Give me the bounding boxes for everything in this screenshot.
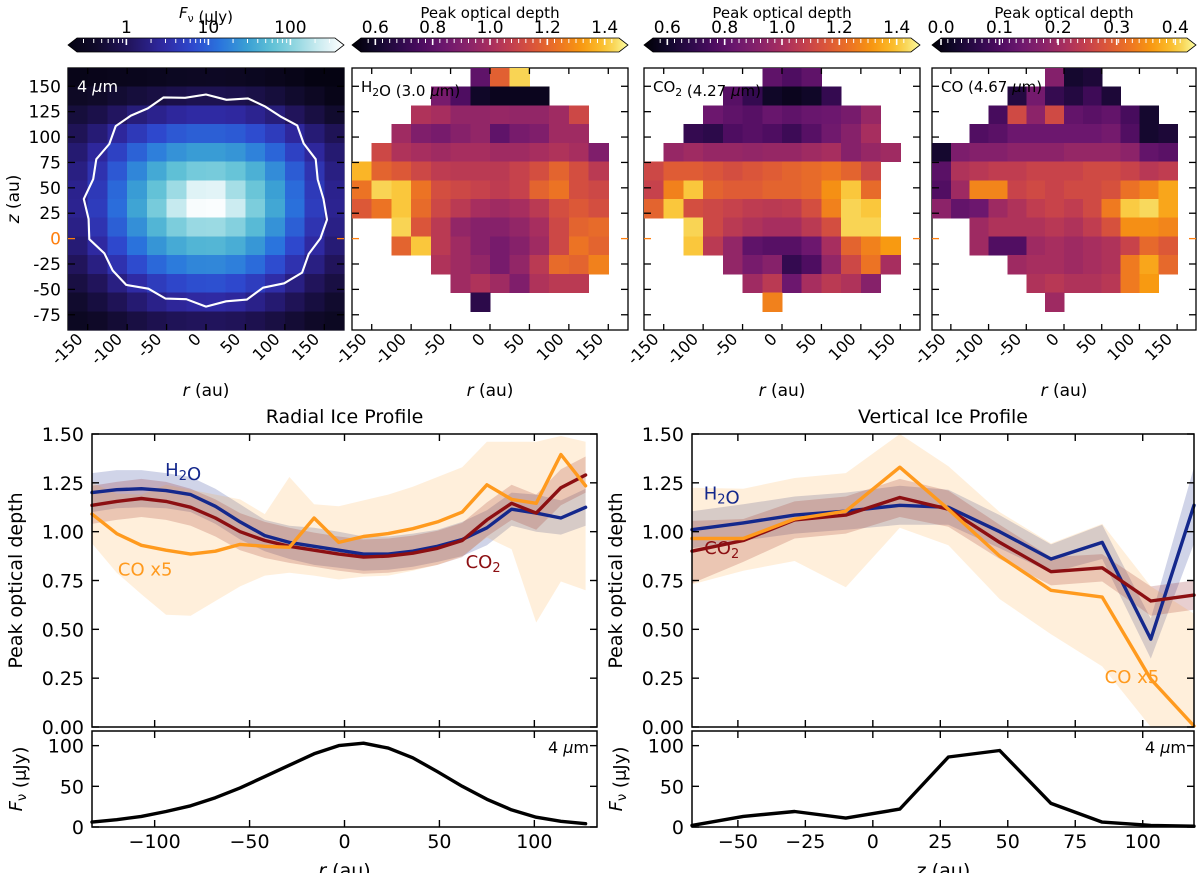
heatmap-cell xyxy=(305,311,325,330)
heatmap-cell xyxy=(821,199,841,218)
heatmap-cell xyxy=(549,180,569,199)
heatmap-cell xyxy=(167,124,187,143)
heatmap-cell xyxy=(1007,162,1026,181)
heatmap-cell xyxy=(107,105,127,124)
heatmap-cell xyxy=(265,162,285,181)
heatmap-cell xyxy=(703,218,723,237)
colorbar-ticklabel: 0.6 xyxy=(362,18,389,38)
heatmap-cell xyxy=(743,199,763,218)
heatmap-cell xyxy=(470,293,490,312)
heatmap-cell xyxy=(305,293,325,312)
heatmap-cell xyxy=(226,162,246,181)
xtick-label: -150 xyxy=(331,329,370,368)
heatmap-cell xyxy=(782,274,802,293)
heatmap-cell xyxy=(821,87,841,106)
colorbar-ticklabel: 0.6 xyxy=(654,18,681,38)
heatmap-cell xyxy=(821,274,841,293)
ytick-label: 1.00 xyxy=(642,522,684,544)
heatmap-cell xyxy=(1045,218,1064,237)
flux-line-vertical-flux-profile xyxy=(692,751,1194,827)
heatmap-cell xyxy=(88,293,108,312)
heatmap-cell xyxy=(510,218,530,237)
colorbar-ticklabel: 0.2 xyxy=(1045,18,1072,38)
heatmap-cell xyxy=(147,255,167,274)
heatmap-cell xyxy=(352,199,372,218)
heatmap-cell xyxy=(1007,180,1026,199)
heatmap-cell xyxy=(821,105,841,124)
heatmap-cell xyxy=(391,180,411,199)
heatmap-cell xyxy=(529,143,549,162)
heatmap-cell xyxy=(68,124,88,143)
ytick-label: 25 xyxy=(39,204,61,224)
heatmap-cell xyxy=(1139,143,1158,162)
heatmap-cell xyxy=(589,236,609,255)
profile-panel-vertical-ice-profile: Vertical Ice ProfileH2OCO2CO x50.000.250… xyxy=(605,406,1194,873)
heatmap-cell xyxy=(549,274,569,293)
heatmap-cell xyxy=(549,218,569,237)
heatmap-cell xyxy=(88,218,108,237)
heatmap-cell xyxy=(932,162,951,181)
heatmap-cell xyxy=(127,218,147,237)
heatmap-cell xyxy=(431,180,451,199)
heatmap-cell xyxy=(549,124,569,143)
heatmap-cell xyxy=(285,162,305,181)
heatmap-cell xyxy=(226,124,246,143)
heatmap-cell xyxy=(1045,124,1064,143)
heatmap-cell xyxy=(743,105,763,124)
ytick-label: 50 xyxy=(39,179,61,199)
heatmap-cell xyxy=(549,236,569,255)
heatmap-cell xyxy=(802,274,822,293)
xaxis-label-flux-map: r (au) xyxy=(183,381,230,401)
heatmap-cell xyxy=(529,87,549,106)
heatmap-cell xyxy=(1045,293,1064,312)
heatmap-cell xyxy=(1139,274,1158,293)
heatmap-cell xyxy=(762,162,782,181)
heatmap-cell xyxy=(1083,236,1102,255)
heatmap-cell xyxy=(703,199,723,218)
heatmap-cell xyxy=(147,180,167,199)
heatmap-cell xyxy=(762,218,782,237)
heatmap-cell xyxy=(510,124,530,143)
heatmap-cell xyxy=(743,162,763,181)
heatmap-cell xyxy=(167,162,187,181)
heatmap-cell xyxy=(451,236,471,255)
heatmap-cell xyxy=(324,236,344,255)
series-label-CO₂: CO2 xyxy=(466,552,501,576)
heatmap-cell xyxy=(127,311,147,330)
xtick-label: -150 xyxy=(47,329,86,368)
xtick-label: -50 xyxy=(993,329,1025,361)
heatmap-cell xyxy=(324,87,344,106)
heatmap-cell xyxy=(569,274,589,293)
ytick-label: 50 xyxy=(60,776,84,798)
ytick-label: 100 xyxy=(29,128,61,148)
heatmap-cell xyxy=(569,199,589,218)
heatmap-cell xyxy=(265,143,285,162)
heatmap-cell xyxy=(989,143,1008,162)
heatmap-cell xyxy=(285,311,305,330)
heatmap-cell xyxy=(245,162,265,181)
xtick-label: −50 xyxy=(718,831,758,853)
heatmap-cell xyxy=(411,105,431,124)
heatmap-cell xyxy=(970,199,989,218)
heatmap-cell xyxy=(490,218,510,237)
heatmap-cell xyxy=(147,105,167,124)
xtick-label: 100 xyxy=(249,329,284,364)
heatmap-cell xyxy=(782,236,802,255)
heatmap-cell xyxy=(490,68,510,87)
heatmap-cell xyxy=(167,255,187,274)
heatmap-cell xyxy=(989,162,1008,181)
heatmap-cell xyxy=(431,218,451,237)
heatmap-cell xyxy=(989,105,1008,124)
heatmap-cell xyxy=(569,143,589,162)
heatmap-cell xyxy=(529,274,549,293)
xtick-label: 50 xyxy=(427,831,451,853)
heatmap-cell xyxy=(324,162,344,181)
heatmap-cell xyxy=(762,199,782,218)
heatmap-cell xyxy=(1026,124,1045,143)
heatmap-cell xyxy=(88,105,108,124)
ytick-label: 1.00 xyxy=(42,522,84,544)
heatmap-cell xyxy=(186,124,206,143)
heatmap-cell xyxy=(285,236,305,255)
heatmap-cell xyxy=(265,180,285,199)
heatmap-cell xyxy=(549,143,569,162)
heatmap-cell xyxy=(245,180,265,199)
heatmap-cell xyxy=(411,218,431,237)
heatmap-cell xyxy=(723,105,743,124)
heatmap-cell xyxy=(88,255,108,274)
ytick-label: 0.25 xyxy=(42,668,84,690)
heatmap-cell xyxy=(644,199,664,218)
heatmap-cell xyxy=(167,274,187,293)
heatmap-cell xyxy=(1045,162,1064,181)
heatmap-cell xyxy=(88,274,108,293)
ytick-label: 50 xyxy=(660,776,684,798)
heatmap-cell xyxy=(1045,180,1064,199)
heatmap-cell xyxy=(821,124,841,143)
flux-annotation-radial-flux-profile: 4 μm xyxy=(548,738,589,757)
xtick-label: 50 xyxy=(216,329,244,357)
heatmap-cell xyxy=(490,236,510,255)
heatmap-cell xyxy=(167,180,187,199)
heatmap-cell xyxy=(372,199,392,218)
heatmap-cell xyxy=(589,162,609,181)
xaxis-label-vertical-ice-profile: z (au) xyxy=(915,860,971,873)
heatmap-cell xyxy=(1121,105,1140,124)
heatmap-cell xyxy=(88,199,108,218)
heatmap-cell xyxy=(391,162,411,181)
heatmap-cell xyxy=(510,105,530,124)
heatmap-cell xyxy=(802,68,822,87)
heatmap-cell xyxy=(802,124,822,143)
heatmap-cell xyxy=(206,105,226,124)
heatmap-cell xyxy=(1139,218,1158,237)
xtick-label: -150 xyxy=(623,329,662,368)
heatmap-cell xyxy=(841,236,861,255)
heatmap-cell xyxy=(186,255,206,274)
heatmap-cell xyxy=(1045,274,1064,293)
xtick-label: 0 xyxy=(760,329,781,350)
heatmap-cell xyxy=(206,162,226,181)
ytick-label: 150 xyxy=(29,77,61,97)
heatmap-cell xyxy=(431,255,451,274)
heatmap-cell xyxy=(1064,162,1083,181)
heatmap-cell xyxy=(431,162,451,181)
heatmap-cell xyxy=(1158,143,1177,162)
heatmap-cell xyxy=(226,180,246,199)
heatmap-cell xyxy=(703,236,723,255)
yaxis-label-radial-ice-profile: Peak optical depth xyxy=(5,492,27,668)
heatmap-cell xyxy=(147,162,167,181)
heatmap-cell xyxy=(411,180,431,199)
heatmap-cell xyxy=(324,124,344,143)
heatmap-cell xyxy=(802,105,822,124)
heatmap-cell xyxy=(285,199,305,218)
heatmap-cell xyxy=(683,199,703,218)
heatmap-cell xyxy=(147,68,167,87)
heatmap-cell xyxy=(1026,162,1045,181)
xaxis-label-co2-map: r (au) xyxy=(759,381,806,401)
heatmap-cell xyxy=(324,143,344,162)
heatmap-cell xyxy=(1007,199,1026,218)
xaxis-label-h2o-map: r (au) xyxy=(467,381,514,401)
colorbar-ticklabel: 100 xyxy=(274,18,306,38)
heatmap-cell xyxy=(703,124,723,143)
heatmap-cell xyxy=(167,87,187,106)
heatmap-cell xyxy=(451,162,471,181)
heatmap-cell xyxy=(127,255,147,274)
heatmap-cell xyxy=(1139,236,1158,255)
heatmap-cell xyxy=(1083,87,1102,106)
heatmap-cell xyxy=(490,255,510,274)
heatmap-cell xyxy=(762,105,782,124)
heatmap-cell xyxy=(431,199,451,218)
heatmap-cell xyxy=(569,255,589,274)
heatmap-cell xyxy=(490,162,510,181)
heatmap-cell xyxy=(762,293,782,312)
heatmap-cell xyxy=(391,143,411,162)
heatmap-cell xyxy=(285,143,305,162)
heatmap-cell xyxy=(1064,68,1083,87)
heatmap-cell xyxy=(723,236,743,255)
heatmap-cell xyxy=(1102,105,1121,124)
xtick-label: 25 xyxy=(928,831,952,853)
ytick-label: 0.75 xyxy=(642,571,684,593)
heatmap-cell xyxy=(529,199,549,218)
heatmap-cell xyxy=(470,236,490,255)
heatmap-cell xyxy=(989,124,1008,143)
heatmap-cell xyxy=(802,162,822,181)
heatmap-cell xyxy=(1102,143,1121,162)
heatmap-cell xyxy=(841,255,861,274)
series-label-CO x5: CO x5 xyxy=(1105,667,1160,688)
heatmap-cell xyxy=(451,255,471,274)
colorbar-ticklabel: 1.4 xyxy=(883,18,910,38)
heatmap-cell xyxy=(285,87,305,106)
heatmap-cell xyxy=(1045,199,1064,218)
heatmap-cell xyxy=(186,274,206,293)
heatmap-cell xyxy=(206,124,226,143)
heatmap-cell xyxy=(88,124,108,143)
heatmap-cell xyxy=(490,199,510,218)
heatmap-cell xyxy=(88,162,108,181)
heatmap-cell xyxy=(1158,199,1177,218)
heatmap-cell xyxy=(226,274,246,293)
heatmap-cell xyxy=(644,180,664,199)
heatmap-cell xyxy=(529,218,549,237)
heatmap-cell xyxy=(285,68,305,87)
heatmap-cell xyxy=(861,143,881,162)
heatmap-cell xyxy=(324,68,344,87)
yaxis-label: z (au) xyxy=(4,175,24,225)
heatmap-cell xyxy=(1158,180,1177,199)
ytick-label: 1.25 xyxy=(42,473,84,495)
heatmap-cell xyxy=(186,105,206,124)
xtick-label: 0 xyxy=(468,329,489,350)
colorbar-ticklabel: 10 xyxy=(198,18,220,38)
heatmap-cell xyxy=(802,236,822,255)
heatmap-cell xyxy=(68,255,88,274)
xaxis-label-radial-ice-profile: r (au) xyxy=(318,860,370,873)
heatmap-cell xyxy=(782,162,802,181)
heatmap-cell xyxy=(1007,255,1026,274)
heatmap-cell xyxy=(510,236,530,255)
heatmap-cell xyxy=(245,236,265,255)
heatmap-cell xyxy=(802,180,822,199)
heatmap-cell xyxy=(782,199,802,218)
xtick-label: 100 xyxy=(533,329,568,364)
heatmap-cell xyxy=(1026,143,1045,162)
heatmap-cell xyxy=(1102,162,1121,181)
heatmap-cell xyxy=(821,162,841,181)
heatmap-cell xyxy=(932,180,951,199)
heatmap-cell xyxy=(107,199,127,218)
heatmap-cell xyxy=(1045,255,1064,274)
heatmap-cell xyxy=(510,162,530,181)
heatmap-cell xyxy=(147,236,167,255)
heatmap-cell xyxy=(265,293,285,312)
xtick-label: 0 xyxy=(1042,329,1063,350)
heatmap-cell xyxy=(723,255,743,274)
ytick-label: -50 xyxy=(33,280,61,300)
heatmap-cell xyxy=(245,218,265,237)
heatmap-cell xyxy=(411,124,431,143)
heatmap-cell xyxy=(226,143,246,162)
heatmap-cell xyxy=(490,124,510,143)
heatmap-cell xyxy=(951,143,970,162)
heatmap-cell xyxy=(1102,180,1121,199)
heatmap-cell xyxy=(723,143,743,162)
heatmap-cell xyxy=(1083,143,1102,162)
heatmap-cell xyxy=(147,311,167,330)
heatmap-cell xyxy=(352,162,372,181)
heatmap-cell xyxy=(1064,124,1083,143)
heatmap-cell xyxy=(68,105,88,124)
heatmap-cell xyxy=(167,218,187,237)
heatmap-cell xyxy=(782,68,802,87)
xtick-label: −25 xyxy=(785,831,825,853)
flux-annotation-vertical-flux-profile: 4 μm xyxy=(1145,738,1186,757)
ytick-label: 0.50 xyxy=(42,619,84,641)
heatmap-cell xyxy=(490,87,510,106)
heatmap-cell xyxy=(970,124,989,143)
colorbar-ticklabel: 0.8 xyxy=(711,18,738,38)
heatmap-cell xyxy=(1045,87,1064,106)
heatmap-cell xyxy=(762,87,782,106)
heatmap-cell xyxy=(549,199,569,218)
heatmap-cell xyxy=(372,180,392,199)
heatmap-cell xyxy=(802,87,822,106)
heatmap-cell xyxy=(1083,274,1102,293)
heatmap-cell xyxy=(391,124,411,143)
colorbar-ticklabel: 1.0 xyxy=(768,18,795,38)
heatmap-cell xyxy=(644,162,664,181)
heatmap-cell xyxy=(206,143,226,162)
heatmap-cell xyxy=(470,87,490,106)
heatmap-cell xyxy=(470,218,490,237)
heatmap-cell xyxy=(743,143,763,162)
xtick-label: −50 xyxy=(230,831,270,853)
colorbar-ticklabel: 1.2 xyxy=(826,18,853,38)
heatmap-cell xyxy=(529,124,549,143)
heatmap-cell xyxy=(664,143,684,162)
heatmap-cell xyxy=(970,162,989,181)
heatmap-cell xyxy=(723,199,743,218)
heatmap-cell xyxy=(989,236,1008,255)
heatmap-cell xyxy=(226,218,246,237)
top-panel-co-map: Peak optical depth0.00.10.20.30.4CO (4.6… xyxy=(911,4,1196,401)
heatmap-cell xyxy=(1102,255,1121,274)
top-panel-h2o-map: Peak optical depth0.60.81.01.21.4H2O (3.… xyxy=(331,4,628,401)
heatmap-cell xyxy=(411,162,431,181)
ytick-label: 0.75 xyxy=(42,571,84,593)
chart-title-radial-ice-profile: Radial Ice Profile xyxy=(266,406,424,428)
heatmap-cell xyxy=(451,143,471,162)
heatmap-cell xyxy=(821,180,841,199)
heatmap-cell xyxy=(127,68,147,87)
xtick-label: 100 xyxy=(825,329,860,364)
heatmap-cell xyxy=(510,255,530,274)
heatmap-cell xyxy=(1102,124,1121,143)
ytick-label: 100 xyxy=(648,736,684,758)
heatmap-cell xyxy=(743,180,763,199)
heatmap-cell xyxy=(451,180,471,199)
heatmap-cell xyxy=(549,255,569,274)
heatmap-cell xyxy=(703,162,723,181)
heatmap-cell xyxy=(324,180,344,199)
colorbar-ticklabel: 1.4 xyxy=(591,18,618,38)
heatmap-cell xyxy=(245,199,265,218)
heatmap-cell xyxy=(88,311,108,330)
heatmap-cell xyxy=(762,274,782,293)
heatmap-cell xyxy=(683,218,703,237)
heatmap-cell xyxy=(861,199,881,218)
ytick-label: 0 xyxy=(50,230,61,250)
heatmap-cell xyxy=(1026,274,1045,293)
heatmap-cell xyxy=(265,255,285,274)
xtick-label: 100 xyxy=(1125,831,1161,853)
heatmap-cell xyxy=(431,105,451,124)
heatmap-cell xyxy=(470,105,490,124)
heatmap-cell xyxy=(529,255,549,274)
heatmap-cell xyxy=(167,311,187,330)
xtick-label: 150 xyxy=(1141,329,1176,364)
heatmap-cell xyxy=(861,180,881,199)
heatmap-cell xyxy=(107,180,127,199)
